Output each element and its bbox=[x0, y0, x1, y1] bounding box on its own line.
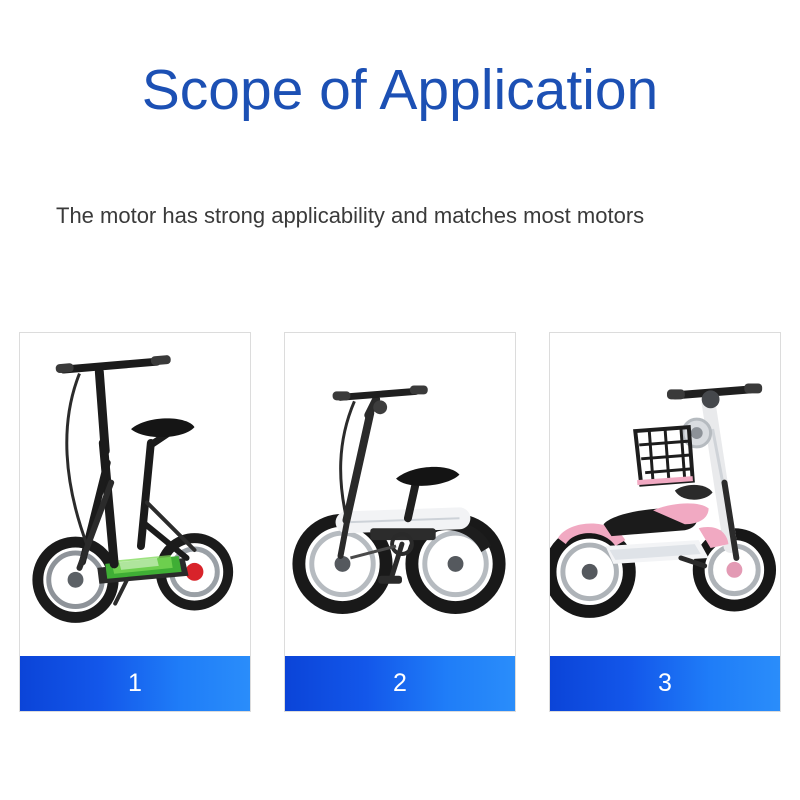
electric-moped-pink-white-icon bbox=[550, 333, 780, 656]
product-card-label-3: 3 bbox=[550, 656, 780, 711]
product-card-1[interactable]: 1 bbox=[19, 332, 251, 712]
product-image-3 bbox=[550, 333, 780, 656]
product-image-1 bbox=[20, 333, 250, 656]
electric-bike-white-folding-icon bbox=[285, 333, 515, 656]
product-card-list: 1 bbox=[19, 332, 781, 712]
product-card-label-2: 2 bbox=[285, 656, 515, 711]
page-title: Scope of Application bbox=[0, 56, 800, 124]
product-card-2[interactable]: 2 bbox=[284, 332, 516, 712]
product-card-label-1: 1 bbox=[20, 656, 250, 711]
page-subtitle: The motor has strong applicability and m… bbox=[56, 192, 776, 240]
product-card-3[interactable]: 3 bbox=[549, 332, 781, 712]
page-root: Scope of Application The motor has stron… bbox=[0, 0, 800, 800]
electric-scooter-black-green-icon bbox=[20, 333, 250, 656]
product-image-2 bbox=[285, 333, 515, 656]
